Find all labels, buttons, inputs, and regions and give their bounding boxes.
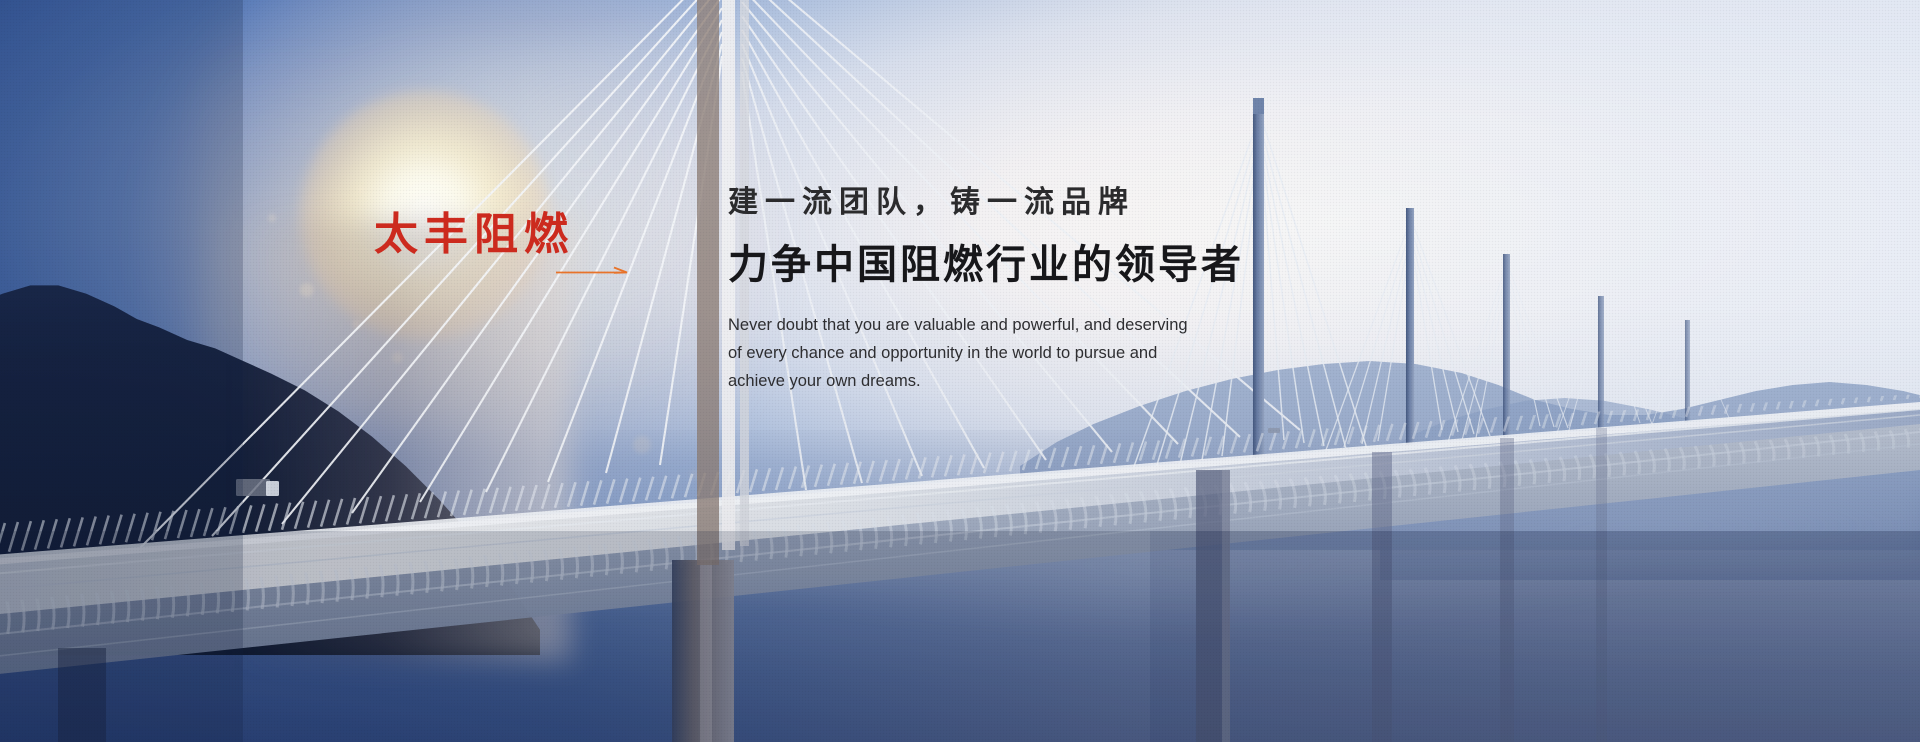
hero-banner: 太丰阻燃 建一流团队，铸一流品牌 力争中国阻燃行业的领导者 Never doub… [0, 0, 1920, 742]
description-line: Never doubt that you are valuable and po… [728, 311, 1198, 339]
description-line: of every chance and opportunity in the w… [728, 339, 1198, 367]
description-paragraph: Never doubt that you are valuable and po… [728, 311, 1198, 395]
right-arrow-icon [556, 265, 628, 279]
headline-secondary: 建一流团队，铸一流品牌 [728, 186, 1428, 221]
description-line: achieve your own dreams. [728, 367, 1198, 395]
banner-content: 太丰阻燃 建一流团队，铸一流品牌 力争中国阻燃行业的领导者 Never doub… [0, 0, 1920, 742]
brand-logo-text: 太丰阻燃 [374, 213, 634, 257]
brand-logo[interactable]: 太丰阻燃 [374, 213, 634, 257]
headline-block: 建一流团队，铸一流品牌 力争中国阻燃行业的领导者 Never doubt tha… [728, 186, 1428, 395]
headline-primary: 力争中国阻燃行业的领导者 [728, 243, 1428, 288]
